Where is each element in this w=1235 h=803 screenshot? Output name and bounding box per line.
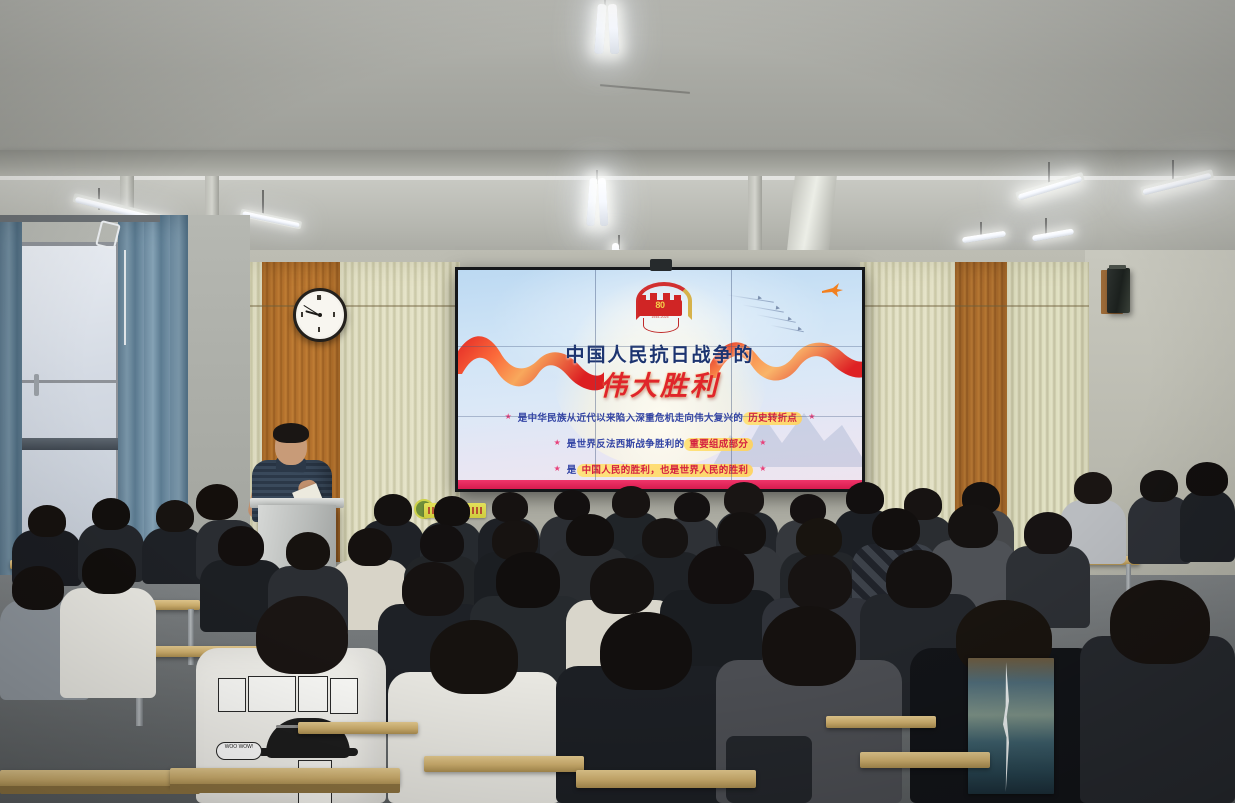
emblem-laurel	[643, 318, 679, 333]
student-head	[256, 596, 348, 674]
student-head	[612, 486, 650, 518]
student-head	[846, 482, 884, 514]
student-head	[28, 505, 66, 537]
clock-face: 12 3 6 9	[298, 293, 342, 337]
student-head	[196, 484, 238, 520]
desk-top	[298, 722, 418, 734]
student-head	[886, 550, 952, 608]
desk-top	[826, 716, 936, 728]
student-head	[12, 566, 64, 610]
tee-comic-panel	[218, 678, 246, 712]
student-head	[420, 524, 464, 562]
bullet-star-icon: ★	[759, 439, 766, 447]
desk-edge	[170, 784, 400, 793]
lead-jet-icon	[820, 282, 844, 298]
student-head	[1140, 470, 1178, 502]
desk-top-foreground	[576, 770, 756, 788]
student-head	[688, 546, 754, 604]
slide-bullet-row: ★ 是中国人民的胜利，也是世界人民的胜利 ★	[458, 462, 862, 476]
curtain-rail	[0, 215, 160, 222]
student-head	[1110, 580, 1210, 664]
tee-comic-panel	[330, 678, 358, 714]
student-torso	[1180, 490, 1235, 562]
video-wall-seam	[458, 346, 862, 347]
bullet-text-before: 是	[567, 465, 577, 476]
slide-bullet-row: ★ 是世界反法西斯战争胜利的重要组成部分 ★	[458, 436, 862, 450]
emblem-number: 80	[651, 300, 669, 310]
hoodie-landscape-graphic	[968, 658, 1054, 794]
wall-clock: 12 3 6 9	[293, 288, 347, 342]
tee-comic-panel	[248, 676, 296, 712]
lecturer-hair	[273, 423, 309, 443]
student-head	[724, 482, 764, 516]
student-head	[948, 504, 998, 548]
slide-bullet-list: ★ 是中华民族从近代以来陷入深重危机走向伟大复兴的历史转折点 ★ ★ 是世界反法…	[458, 410, 862, 488]
student-head	[642, 518, 688, 558]
video-wall-seam	[595, 270, 596, 489]
student-head	[762, 606, 856, 686]
student-head	[402, 562, 464, 616]
student-head	[1186, 462, 1228, 496]
student-head	[492, 492, 528, 522]
tee-hat-brim	[258, 748, 358, 756]
slide-title-line2: 伟大胜利	[458, 364, 862, 403]
bullet-star-icon: ★	[554, 439, 561, 447]
student-head	[1024, 512, 1072, 554]
desk-top-foreground	[860, 752, 990, 768]
clock-center	[318, 313, 322, 317]
student-head	[600, 612, 692, 690]
jet-icon	[776, 306, 781, 311]
student-head	[590, 558, 654, 614]
student-head	[156, 500, 194, 532]
student-head	[348, 528, 392, 566]
video-wall-seam	[458, 416, 862, 417]
student-head	[286, 532, 330, 570]
speaker-top-right	[1109, 265, 1126, 269]
bullet-highlight: 中国人民的胜利，也是世界人民的胜利	[577, 464, 754, 477]
bullet-text-before: 是世界反法西斯战争胜利的	[567, 439, 685, 450]
bullet-star-icon: ★	[505, 413, 512, 421]
student-head	[434, 496, 470, 526]
jet-icon	[758, 296, 763, 301]
student-head	[82, 548, 136, 594]
classroom-photo-scene: 12 3 6 9	[0, 0, 1235, 803]
wall-speaker-right	[1107, 268, 1130, 313]
emblem-battlement	[639, 295, 646, 302]
student-head	[92, 498, 130, 530]
slide-bottom-band	[458, 480, 862, 489]
screen-display: 80 1945-2025 中国人民抗日战争的 伟大胜利 ★ 是中华民族从近代以来…	[458, 270, 862, 489]
curtain-pull-string[interactable]	[124, 250, 126, 345]
desk-top-foreground	[424, 756, 584, 772]
student-head	[218, 526, 264, 566]
tee-comic-panel	[298, 676, 328, 712]
video-wall-seam	[731, 270, 732, 489]
slide-title-line1: 中国人民抗日战争的	[458, 340, 862, 367]
student-head	[674, 492, 710, 522]
video-wall-screen[interactable]: 80 1945-2025 中国人民抗日战争的 伟大胜利 ★ 是中华民族从近代以来…	[455, 267, 865, 492]
bullet-highlight: 重要组成部分	[684, 438, 753, 451]
student-head	[796, 518, 842, 558]
panel-seam	[860, 305, 1089, 307]
emblem-battlement	[674, 295, 681, 302]
student-head	[496, 552, 560, 608]
student-head	[788, 554, 852, 610]
window-latch[interactable]	[34, 374, 39, 396]
student-head	[374, 494, 412, 526]
anniversary-emblem: 80 1945-2025	[632, 282, 688, 334]
bullet-text-before: 是中华民族从近代以来陷入深重危机走向伟大复兴的	[518, 413, 743, 424]
bullet-highlight: 历史转折点	[743, 412, 802, 425]
student-head	[566, 514, 614, 556]
student-head	[872, 508, 920, 550]
bullet-star-icon: ★	[808, 413, 815, 421]
screen-mount-bracket	[650, 259, 672, 271]
bullet-star-icon: ★	[554, 465, 561, 473]
slide-bullet-row: ★ 是中华民族从近代以来陷入深重危机走向伟大复兴的历史转折点 ★	[458, 410, 862, 424]
window-sill	[18, 438, 120, 450]
bullet-text: 是中华民族从近代以来陷入深重危机走向伟大复兴的历史转折点	[518, 410, 802, 424]
student-torso	[60, 588, 156, 698]
student-head	[430, 620, 518, 694]
student-head	[1074, 472, 1112, 504]
tee-speech-bubble: WOO WOW!	[216, 742, 262, 760]
bullet-star-icon: ★	[759, 465, 766, 473]
